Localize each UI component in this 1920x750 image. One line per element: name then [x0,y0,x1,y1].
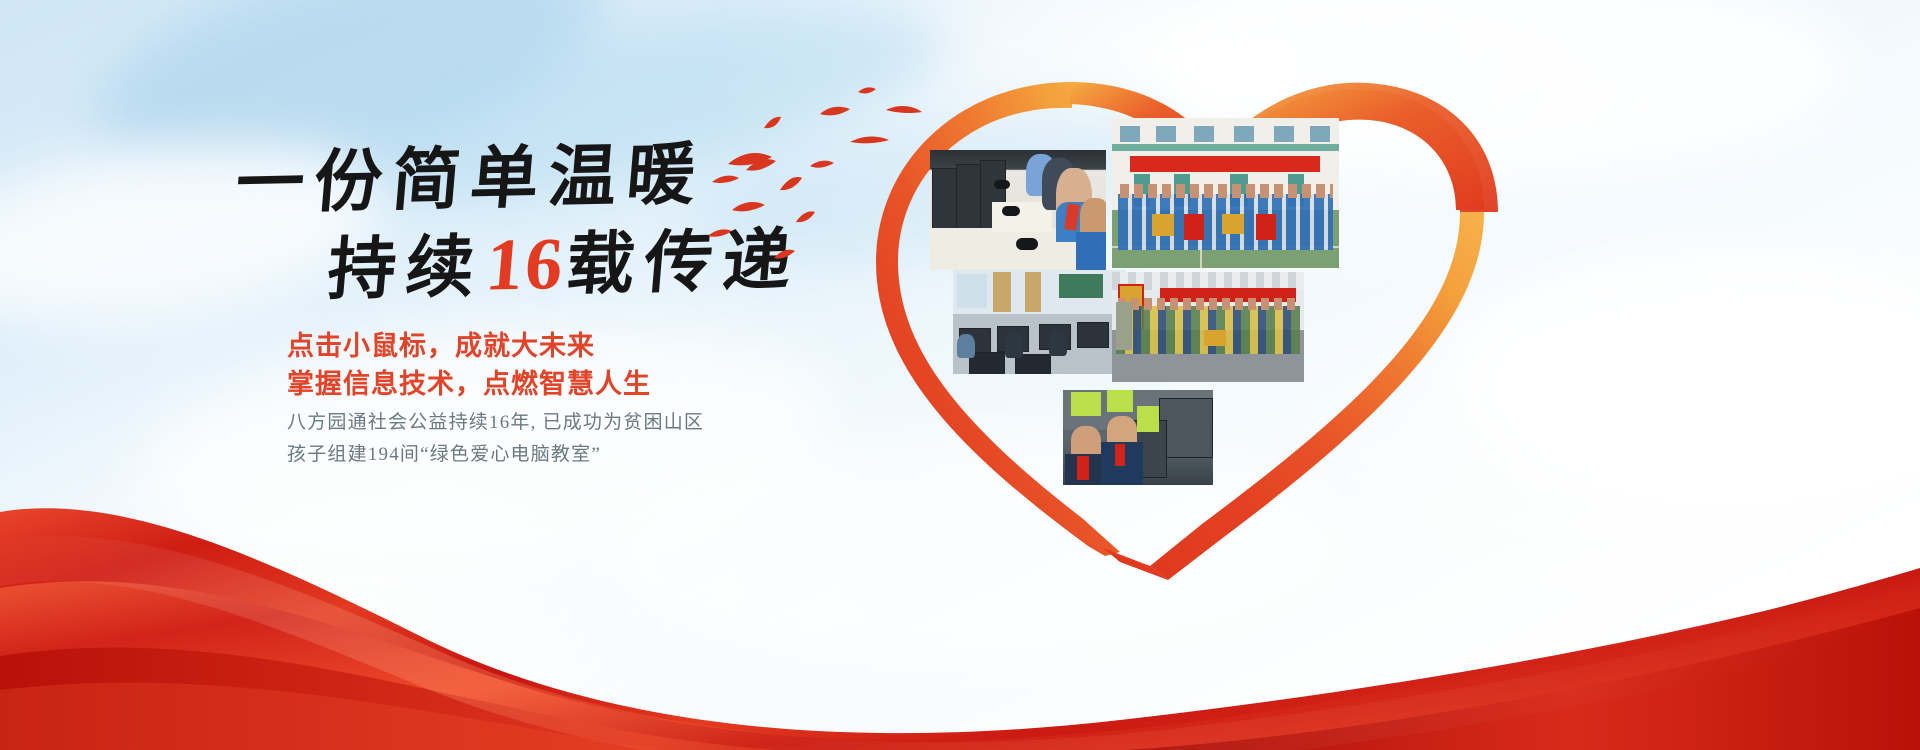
photo-computer-lab-students [930,150,1106,270]
slogan-line-2: 掌握信息技术，点燃智慧人生 [287,365,651,403]
photo-classroom-monitors [953,270,1126,374]
headline-line-2-prefix: 持续 [325,229,488,308]
charity-banner: 一份简单温暖 持续16载传递 点击小鼠标，成就大未来 掌握信息技术，点燃智慧人生… [0,0,1920,750]
photo-school-group-ceremony [1112,118,1339,268]
red-silk-ribbon-icon [0,420,1920,750]
flying-birds-icon [690,70,950,300]
ceremony-banner [1130,156,1320,172]
slogan-line-1: 点击小鼠标，成就大未来 [287,327,651,365]
photo-indoor-award-group [1112,272,1304,382]
slogan: 点击小鼠标，成就大未来 掌握信息技术，点燃智慧人生 [287,327,651,403]
headline-year-count: 16 [481,223,570,307]
